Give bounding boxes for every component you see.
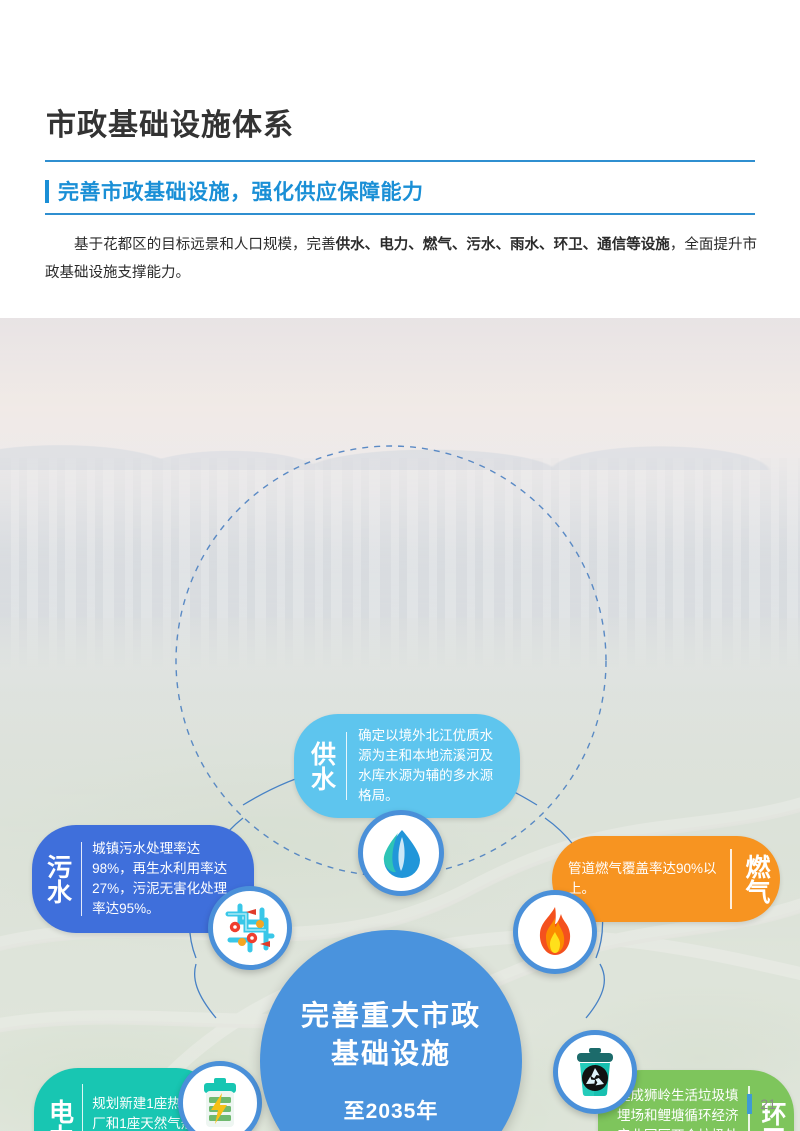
- intro-text-bold: 供水、电力、燃气、污水、雨水、环卫、通信等设施: [336, 237, 670, 253]
- battery-icon: [199, 1077, 241, 1129]
- card-divider: [346, 732, 347, 800]
- divider-top: [45, 160, 755, 162]
- pipe-network-icon: [222, 900, 278, 956]
- hub-line-3: 至2035年: [344, 1095, 439, 1125]
- flame-icon: [533, 906, 577, 958]
- hub-line-1: 完善重大市政: [301, 997, 481, 1035]
- section-accent-bar: [45, 180, 49, 203]
- page-header: 市政基础设施体系 完善市政基础设施，强化供应保障能力 基于花都区的目标远景和人口…: [0, 0, 800, 318]
- card-water-supply[interactable]: 供水 确定以境外北江优质水源为主和本地流溪河及水库水源为辅的多水源格局。: [294, 714, 520, 818]
- page-number-value: 21: [760, 1096, 776, 1112]
- section-heading: 完善市政基础设施，强化供应保障能力: [45, 172, 755, 210]
- card-divider: [82, 1084, 83, 1131]
- card-tag-sewage: 污水: [44, 854, 70, 904]
- card-divider: [730, 849, 732, 909]
- divider-bottom: [45, 213, 755, 215]
- hub-line-2: 基础设施: [331, 1035, 451, 1073]
- water-drop-icon: [378, 828, 424, 878]
- section-heading-label: 完善市政基础设施，强化供应保障能力: [58, 176, 424, 206]
- card-desc-gas: 管道燃气覆盖率达90%以上。: [568, 859, 719, 900]
- card-tag-gas: 燃气: [743, 854, 769, 904]
- card-tag-power: 电力: [46, 1099, 72, 1131]
- intro-paragraph: 基于花都区的目标远景和人口规模，完善供水、电力、燃气、污水、雨水、环卫、通信等设…: [45, 232, 757, 287]
- recycle-bin-icon: [570, 1046, 620, 1098]
- page-number-bar: [747, 1094, 752, 1114]
- icon-bubble-gas[interactable]: [513, 890, 597, 974]
- page-number: 21: [747, 1094, 776, 1114]
- card-divider: [81, 842, 82, 916]
- card-tag-water-supply: 供水: [308, 741, 334, 791]
- infographic-panel: 供水 确定以境外北江优质水源为主和本地流溪河及水库水源为辅的多水源格局。 污水 …: [0, 318, 800, 1131]
- icon-bubble-water-supply[interactable]: [358, 810, 444, 896]
- page-title: 市政基础设施体系: [46, 100, 294, 144]
- icon-bubble-sanitation[interactable]: [553, 1030, 637, 1114]
- icon-bubble-sewage[interactable]: [208, 886, 292, 970]
- intro-text-part1: 基于花都区的目标远景和人口规模，完善: [74, 237, 336, 253]
- card-desc-water-supply: 确定以境外北江优质水源为主和本地流溪河及水库水源为辅的多水源格局。: [358, 726, 504, 807]
